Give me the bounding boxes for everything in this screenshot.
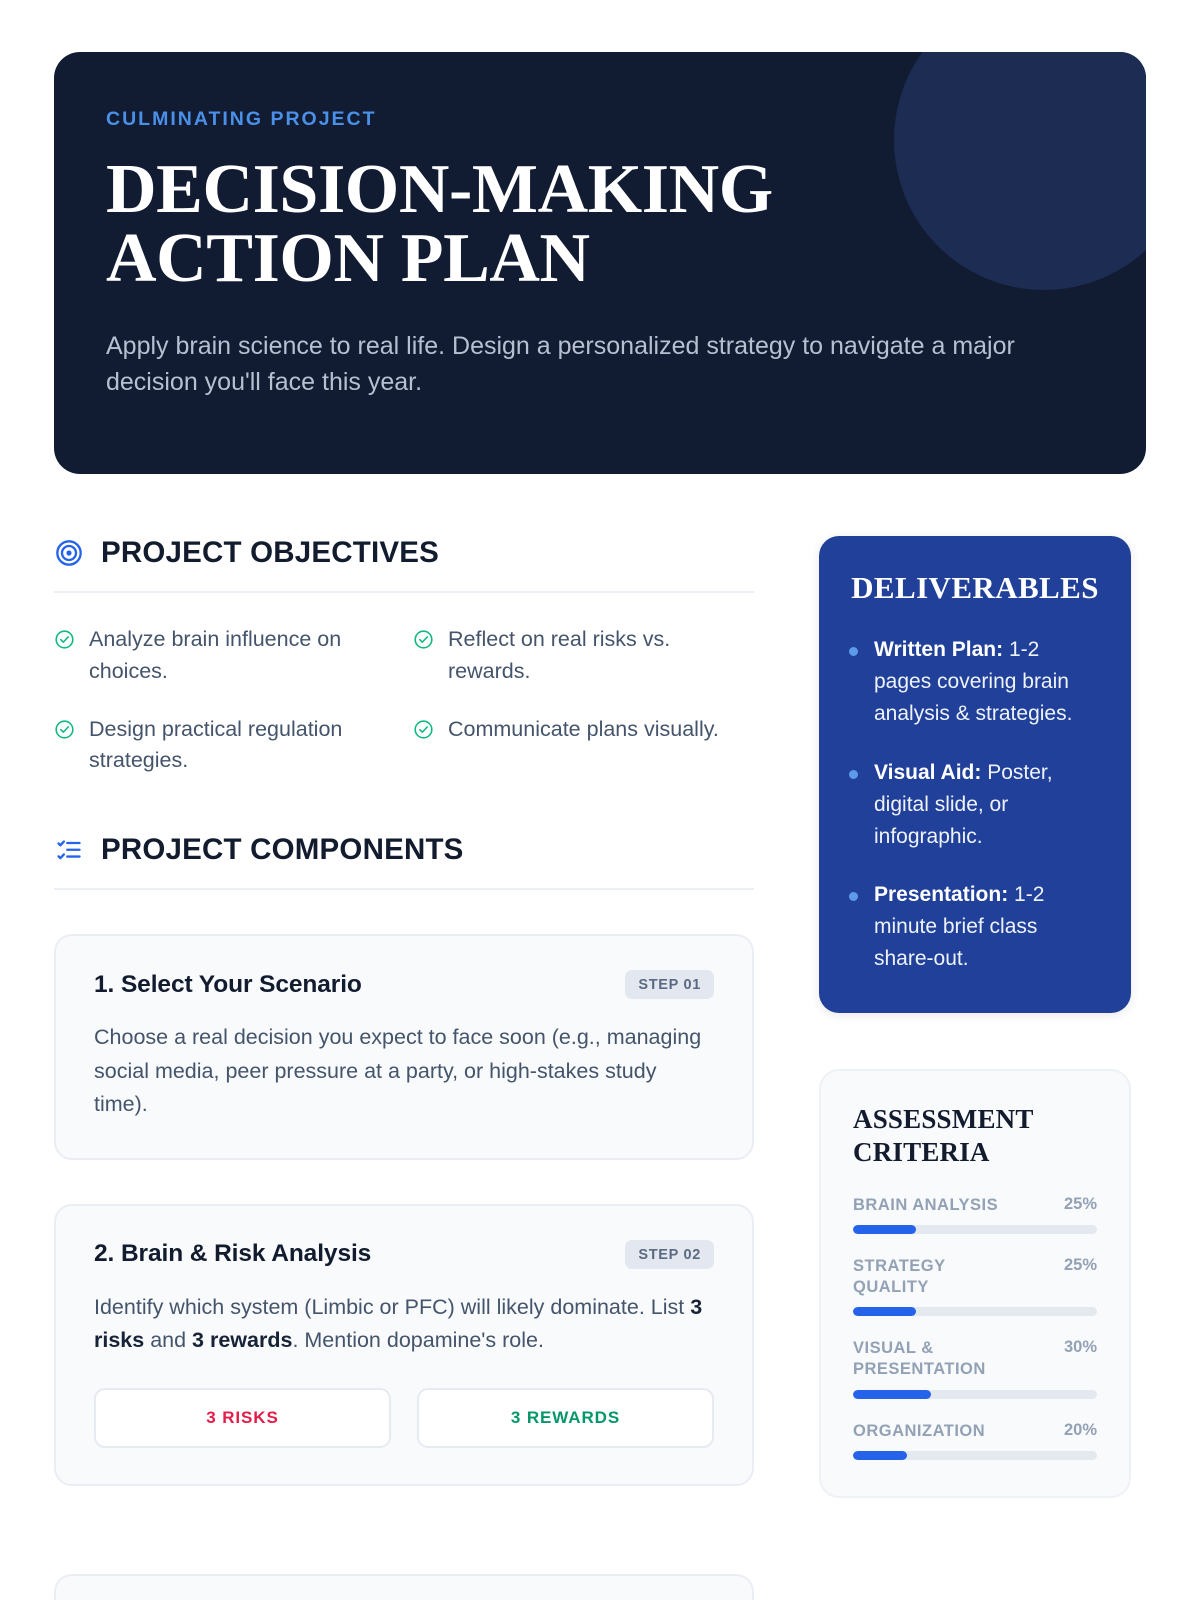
step-card-emphasis: 3 rewards [192, 1328, 292, 1352]
criterion-track [853, 1225, 1097, 1234]
criterion-fill [853, 1390, 931, 1399]
deliverables-title: DELIVERABLES [849, 570, 1101, 606]
criterion-name: ORGANIZATION [853, 1421, 985, 1442]
rewards-chip[interactable]: 3 REWARDS [417, 1388, 714, 1448]
step-card-body: Identify which system (Limbic or PFC) wi… [94, 1291, 714, 1358]
sidebar-column: DELIVERABLES Written Plan: 1-2 pages cov… [819, 536, 1131, 1600]
components-header: PROJECT COMPONENTS [54, 833, 754, 867]
criterion-percent: 20% [1064, 1421, 1097, 1440]
step-card-2: 2. Brain & Risk Analysis STEP 02 Identif… [54, 1204, 754, 1486]
deliverable-item: Written Plan: 1-2 pages covering brain a… [849, 634, 1101, 730]
check-circle-icon [413, 719, 434, 745]
objectives-divider [54, 591, 754, 593]
deliverable-text: Visual Aid: Poster, digital slide, or in… [874, 757, 1101, 853]
criterion-row: BRAIN ANALYSIS 25% [853, 1195, 1097, 1234]
check-circle-icon [54, 719, 75, 745]
criterion-percent: 25% [1064, 1195, 1097, 1214]
risk-reward-chips: 3 RISKS 3 REWARDS [94, 1388, 714, 1448]
deliverable-text: Presentation: 1-2 minute brief class sha… [874, 879, 1101, 975]
risks-chip[interactable]: 3 RISKS [94, 1388, 391, 1448]
criterion-percent: 30% [1064, 1338, 1097, 1357]
criterion-name: VISUAL & PRESENTATION [853, 1338, 1013, 1380]
bullet-dot-icon [849, 647, 858, 656]
step-badge: STEP 02 [625, 1240, 714, 1269]
hero-banner: CULMINATING PROJECT DECISION-MAKING ACTI… [54, 52, 1146, 474]
hero-eyebrow: CULMINATING PROJECT [106, 108, 1088, 131]
bullet-dot-icon [849, 770, 858, 779]
criterion-track [853, 1390, 1097, 1399]
objective-item: Communicate plans visually. [413, 714, 754, 778]
check-circle-icon [54, 629, 75, 655]
criterion-fill [853, 1225, 916, 1234]
criterion-fill [853, 1451, 907, 1460]
components-divider [54, 888, 754, 890]
check-circle-icon [413, 629, 434, 655]
criterion-name: STRATEGY QUALITY [853, 1256, 1013, 1298]
criterion-row: ORGANIZATION 20% [853, 1421, 1097, 1460]
criterion-row: STRATEGY QUALITY 25% [853, 1256, 1097, 1316]
step-card-title: 2. Brain & Risk Analysis [94, 1240, 371, 1268]
bullet-dot-icon [849, 892, 858, 901]
main-column: PROJECT OBJECTIVES Analyze brain influen… [54, 536, 754, 1600]
criterion-fill [853, 1307, 916, 1316]
criterion-percent: 25% [1064, 1256, 1097, 1275]
objectives-list: Analyze brain influence on choices. Refl… [54, 624, 754, 777]
step-card-title: 1. Select Your Scenario [94, 971, 362, 999]
deliverable-label: Presentation: [874, 883, 1008, 906]
assessment-card: ASSESSMENT CRITERIA BRAIN ANALYSIS 25% S… [819, 1069, 1131, 1498]
deliverables-list: Written Plan: 1-2 pages covering brain a… [849, 634, 1101, 975]
objective-text: Design practical regulation strategies. [89, 714, 395, 778]
objective-item: Reflect on real risks vs. rewards. [413, 624, 754, 688]
deliverable-label: Written Plan: [874, 638, 1003, 661]
criterion-track [853, 1451, 1097, 1460]
criterion-name: BRAIN ANALYSIS [853, 1195, 998, 1216]
target-icon [54, 538, 84, 568]
deliverable-label: Visual Aid: [874, 761, 981, 784]
project-brief-page: CULMINATING PROJECT DECISION-MAKING ACTI… [0, 0, 1200, 1600]
objective-text: Analyze brain influence on choices. [89, 624, 395, 688]
step-badge: STEP 01 [625, 970, 714, 999]
objectives-header: PROJECT OBJECTIVES [54, 536, 754, 570]
step-card-text: . Mention dopamine's role. [292, 1328, 544, 1352]
deliverable-text: Written Plan: 1-2 pages covering brain a… [874, 634, 1101, 730]
step-card-body: Choose a real decision you expect to fac… [94, 1021, 714, 1122]
deliverable-item: Presentation: 1-2 minute brief class sha… [849, 879, 1101, 975]
hero-subtitle: Apply brain science to real life. Design… [106, 328, 1036, 401]
step-card-text: and [144, 1328, 192, 1352]
deliverables-card: DELIVERABLES Written Plan: 1-2 pages cov… [819, 536, 1131, 1013]
components-title: PROJECT COMPONENTS [101, 833, 464, 867]
objective-item: Analyze brain influence on choices. [54, 624, 395, 688]
component-cards: 1. Select Your Scenario STEP 01 Choose a… [54, 934, 754, 1600]
criterion-row: VISUAL & PRESENTATION 30% [853, 1338, 1097, 1398]
step-card-1: 1. Select Your Scenario STEP 01 Choose a… [54, 934, 754, 1160]
objectives-title: PROJECT OBJECTIVES [101, 536, 439, 570]
deliverable-item: Visual Aid: Poster, digital slide, or in… [849, 757, 1101, 853]
step-card-text: Choose a real decision you expect to fac… [94, 1025, 701, 1116]
criterion-track [853, 1307, 1097, 1316]
objective-item: Design practical regulation strategies. [54, 714, 395, 778]
step-card-3-partial [54, 1574, 754, 1600]
objective-text: Communicate plans visually. [448, 714, 719, 746]
assessment-title: ASSESSMENT CRITERIA [853, 1103, 1097, 1169]
checklist-icon [54, 835, 84, 865]
page-title: DECISION-MAKING ACTION PLAN [106, 155, 1088, 294]
step-card-text: Identify which system (Limbic or PFC) wi… [94, 1295, 690, 1319]
objective-text: Reflect on real risks vs. rewards. [448, 624, 754, 688]
